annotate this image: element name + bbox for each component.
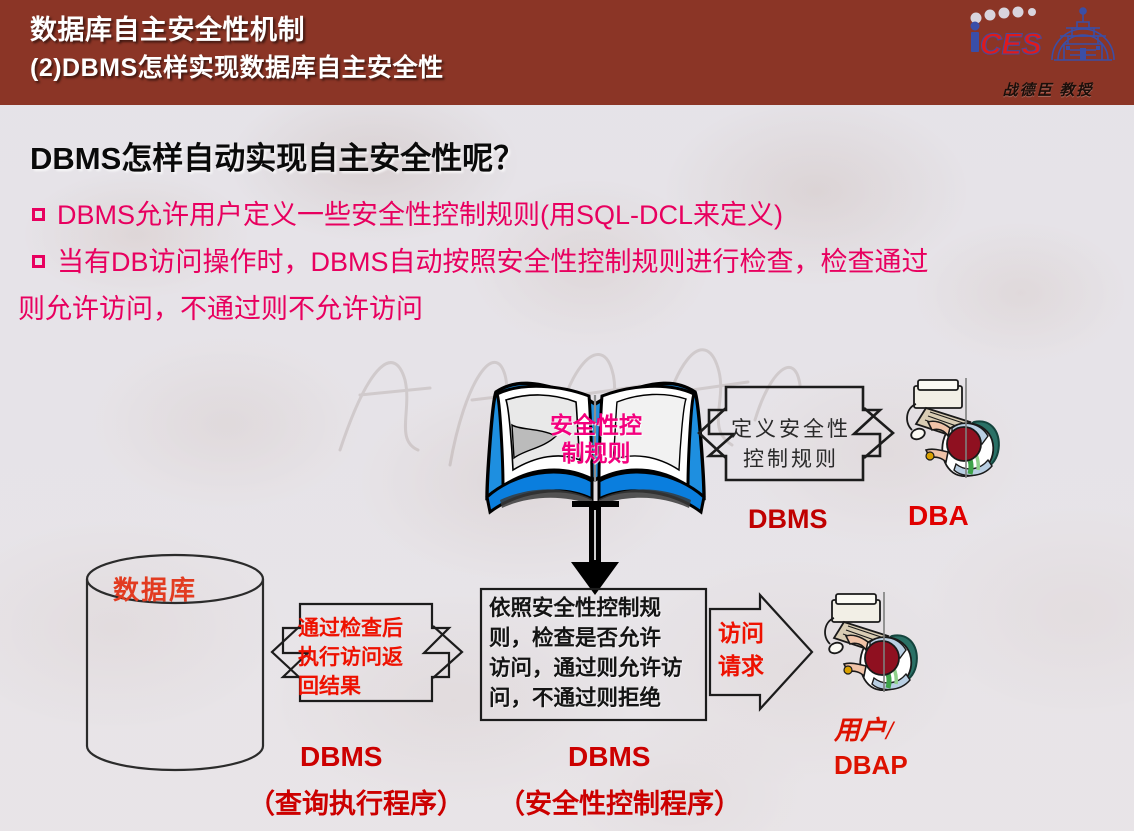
bullet-item-2-text: 当有DB访问操作时，DBMS自动按照安全性控制规则进行检查，检查通过	[57, 247, 929, 277]
define-arrow-label-line2: 控制规则	[727, 444, 855, 474]
user-label-line1: 用户/	[834, 714, 908, 748]
check-box-line1: 依照安全性控制规	[489, 593, 701, 623]
define-arrow-label: 定义安全性 控制规则	[727, 414, 855, 474]
dbms-left-sublabel: （查询执行程序）	[248, 782, 464, 821]
define-arrow-label-line1: 定义安全性	[727, 414, 855, 444]
check-box-line4: 问，不通过则拒绝	[489, 683, 701, 713]
database-label: 数据库	[113, 570, 197, 607]
down-arrow-icon	[571, 501, 619, 595]
book-label-line1: 安全性控	[536, 411, 656, 439]
ices-brand-icon: CES CES	[960, 6, 1052, 66]
person-at-computer-icon	[825, 592, 917, 692]
dbms-right-label: DBMS	[568, 741, 650, 773]
return-arrow-label: 通过检查后 执行访问返 回结果	[298, 614, 434, 701]
request-arrow-label-line2: 请求	[718, 650, 788, 683]
bullet-item-2: 当有DB访问操作时，DBMS自动按照安全性控制规则进行检查，检查通过	[32, 240, 929, 279]
header-title-block: 数据库自主安全性机制 (2)DBMS怎样实现数据库自主安全性	[30, 11, 444, 87]
person-at-computer-icon	[907, 378, 999, 478]
square-bullet-icon	[32, 255, 45, 268]
return-arrow-label-line2: 执行访问返	[298, 643, 434, 672]
check-box-line3: 访问，通过则允许访	[489, 653, 701, 683]
request-arrow-label-line1: 访问	[718, 617, 788, 650]
dbms-top-label: DBMS	[748, 504, 828, 535]
header-title-line1: 数据库自主安全性机制	[30, 11, 444, 49]
university-emblem-icon	[1044, 6, 1122, 68]
bullet-item-2-continuation: 则允许访问，不通过则不允许访问	[18, 287, 423, 326]
dba-label: DBA	[908, 500, 969, 532]
dbms-right-sublabel: （安全性控制程序）	[498, 782, 741, 821]
user-label: 用户/ DBAP	[834, 714, 908, 782]
dbms-left-label: DBMS	[300, 741, 382, 773]
professor-name: 战德臣 教授	[978, 79, 1118, 100]
svg-text:CES: CES	[980, 28, 1042, 61]
page-title: DBMS怎样自动实现自主安全性呢？	[30, 133, 524, 178]
book-label-line2: 制规则	[536, 439, 656, 467]
logo-cluster: CES CES	[958, 4, 1126, 102]
check-box-text: 依照安全性控制规 则，检查是否允许 访问，通过则允许访 问，不通过则拒绝	[489, 593, 701, 713]
user-label-line2: DBAP	[834, 748, 908, 782]
return-arrow-label-line3: 回结果	[298, 672, 434, 701]
book-label: 安全性控 制规则	[536, 411, 656, 467]
bullet-item-1: DBMS允许用户定义一些安全性控制规则(用SQL-DCL来定义)	[32, 193, 783, 232]
slide-canvas: 数据库自主安全性机制 (2)DBMS怎样实现数据库自主安全性 CES CES	[0, 0, 1134, 831]
square-bullet-icon	[32, 208, 45, 221]
return-arrow-label-line1: 通过检查后	[298, 614, 434, 643]
check-box-line2: 则，检查是否允许	[489, 623, 701, 653]
header-bar: 数据库自主安全性机制 (2)DBMS怎样实现数据库自主安全性 CES CES	[0, 0, 1134, 105]
request-arrow-label: 访问 请求	[718, 617, 788, 683]
bullet-item-1-text: DBMS允许用户定义一些安全性控制规则(用SQL-DCL来定义)	[57, 200, 783, 230]
header-title-line2: (2)DBMS怎样实现数据库自主安全性	[30, 49, 444, 87]
